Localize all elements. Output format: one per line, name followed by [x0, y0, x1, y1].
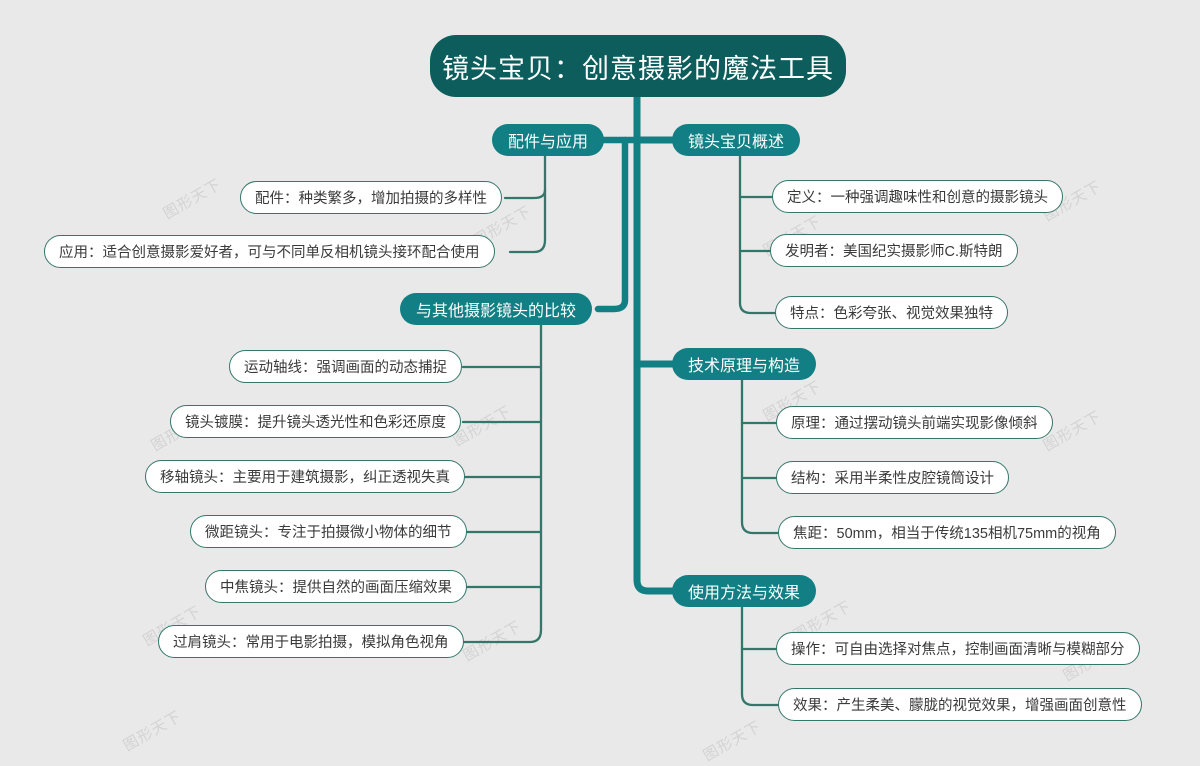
leaf-label: 微距镜头：专注于拍摄微小物体的细节	[205, 521, 452, 542]
leaf-node[interactable]: 结构：采用半柔性皮腔镜筒设计	[776, 461, 1009, 494]
leaf-node[interactable]: 微距镜头：专注于拍摄微小物体的细节	[190, 515, 467, 548]
leaf-label: 特点：色彩夸张、视觉效果独特	[790, 302, 993, 323]
leaf-label: 镜头镀膜：提升镜头透光性和色彩还原度	[185, 411, 446, 432]
leaf-node[interactable]: 中焦镜头：提供自然的画面压缩效果	[205, 570, 467, 603]
root-node[interactable]: 镜头宝贝：创意摄影的魔法工具	[430, 35, 846, 97]
leaf-label: 效果：产生柔美、朦胧的视觉效果，增强画面创意性	[793, 694, 1127, 715]
watermark: 图形天下	[699, 715, 765, 765]
leaf-label: 配件：种类繁多，增加拍摄的多样性	[255, 187, 487, 208]
mindmap-canvas: 图形天下 图形天下 图形天下 图形天下 图形天下 图形天下 图形天下 图形天下 …	[0, 0, 1200, 758]
watermark: 图形天下	[159, 173, 225, 223]
leaf-node[interactable]: 应用：适合创意摄影爱好者，可与不同单反相机镜头接环配合使用	[44, 235, 495, 268]
leaf-label: 定义：一种强调趣味性和创意的摄影镜头	[787, 186, 1048, 207]
leaf-node[interactable]: 移轴镜头：主要用于建筑摄影，纠正透视失真	[145, 460, 465, 493]
leaf-label: 原理：通过摆动镜头前端实现影像倾斜	[791, 412, 1038, 433]
branch-overview[interactable]: 镜头宝贝概述	[672, 124, 800, 156]
leaf-node[interactable]: 特点：色彩夸张、视觉效果独特	[775, 296, 1008, 329]
branch-label: 镜头宝贝概述	[688, 128, 784, 152]
leaf-node[interactable]: 定义：一种强调趣味性和创意的摄影镜头	[772, 180, 1063, 213]
branch-label: 配件与应用	[508, 128, 588, 152]
branch-usage[interactable]: 使用方法与效果	[672, 575, 816, 607]
branch-accessories[interactable]: 配件与应用	[492, 124, 604, 156]
leaf-node[interactable]: 过肩镜头：常用于电影拍摄，模拟角色视角	[158, 625, 464, 658]
watermark: 图形天下	[459, 615, 525, 665]
leaf-label: 移轴镜头：主要用于建筑摄影，纠正透视失真	[160, 466, 450, 487]
leaf-node[interactable]: 配件：种类繁多，增加拍摄的多样性	[240, 181, 502, 214]
leaf-label: 中焦镜头：提供自然的画面压缩效果	[220, 576, 452, 597]
branch-label: 与其他摄影镜头的比较	[416, 297, 576, 321]
leaf-label: 过肩镜头：常用于电影拍摄，模拟角色视角	[173, 631, 449, 652]
leaf-node[interactable]: 焦距：50mm，相当于传统135相机75mm的视角	[778, 516, 1116, 549]
branch-label: 使用方法与效果	[688, 579, 800, 603]
branch-technology[interactable]: 技术原理与构造	[672, 348, 816, 380]
leaf-label: 应用：适合创意摄影爱好者，可与不同单反相机镜头接环配合使用	[59, 241, 480, 262]
watermark: 图形天下	[119, 705, 185, 755]
leaf-node[interactable]: 操作：可自由选择对焦点，控制画面清晰与模糊部分	[776, 632, 1140, 665]
leaf-node[interactable]: 运动轴线：强调画面的动态捕捉	[229, 350, 462, 383]
leaf-label: 发明者：美国纪实摄影师C.斯特朗	[785, 240, 1003, 261]
leaf-node[interactable]: 原理：通过摆动镜头前端实现影像倾斜	[776, 406, 1053, 439]
leaf-node[interactable]: 发明者：美国纪实摄影师C.斯特朗	[770, 234, 1018, 267]
leaf-node[interactable]: 效果：产生柔美、朦胧的视觉效果，增强画面创意性	[778, 688, 1142, 721]
branch-comparison[interactable]: 与其他摄影镜头的比较	[400, 293, 592, 325]
leaf-label: 焦距：50mm，相当于传统135相机75mm的视角	[793, 522, 1101, 543]
leaf-label: 结构：采用半柔性皮腔镜筒设计	[791, 467, 994, 488]
leaf-node[interactable]: 镜头镀膜：提升镜头透光性和色彩还原度	[170, 405, 461, 438]
root-title: 镜头宝贝：创意摄影的魔法工具	[442, 47, 834, 86]
leaf-label: 运动轴线：强调画面的动态捕捉	[244, 356, 447, 377]
leaf-label: 操作：可自由选择对焦点，控制画面清晰与模糊部分	[791, 638, 1125, 659]
branch-label: 技术原理与构造	[688, 352, 800, 376]
